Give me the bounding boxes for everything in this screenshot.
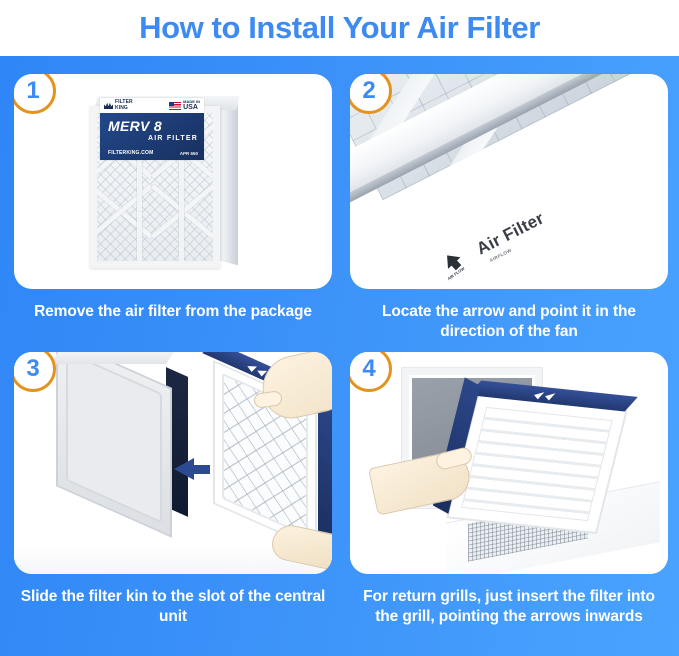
step-card-3: 3 Slide the filter kin to the slot of th… [14,352,332,627]
central-unit-panel [66,352,162,523]
page-title: How to Install Your Air Filter [139,10,540,46]
merv-rating-text: MERV 8 [108,119,198,133]
step-1-image-card: FILTER KING MADE IN USA [14,74,332,289]
header: How to Install Your Air Filter [0,0,679,56]
step-card-2: AIR FLOW Air Filter AIRFLOW 2 Locate the… [350,74,668,342]
air-filter-text: AIR FILTER [108,135,198,142]
brand-line-2: KING [115,106,133,111]
steps-grid: FILTER KING MADE IN USA [0,56,679,656]
step-1-caption: Remove the air filter from the package [14,302,332,322]
filter-king-logo: FILTER KING [104,100,133,110]
made-in-usa-text: MADE IN USA [183,100,200,111]
air-filter-product-image: FILTER KING MADE IN USA [84,96,274,268]
step-2-image-card: AIR FLOW Air Filter AIRFLOW 2 [350,74,668,289]
filter-panel: AIR FLOW Air Filter AIRFLOW [350,74,668,270]
step-number-badge-1: 1 [14,74,56,114]
label-footer: FILTERKING.COM APR 650 [108,150,198,156]
apr-rating-text: APR 650 [180,151,198,156]
step-4-image-card: 4 [350,352,668,574]
label-header: FILTER KING MADE IN USA [100,98,204,113]
infographic-page: How to Install Your Air Filter [0,0,679,656]
central-unit-top [50,352,178,364]
grill-louvers [461,407,613,521]
filter-product-label: FILTER KING MADE IN USA [100,98,204,160]
brand-name: FILTER KING [115,100,133,110]
slide-filter-illustration [14,352,332,574]
central-unit-body [56,352,172,538]
usa-flag-icon [169,102,181,110]
step-card-4: 4 For return grills, just insert the fil… [350,352,668,627]
grill-body [446,394,628,534]
filter-corner-image: AIR FLOW Air Filter AIRFLOW [350,74,668,289]
country-text: USA [183,104,200,111]
step-2-caption: Locate the arrow and point it in the dir… [350,302,668,342]
steps-board: FILTER KING MADE IN USA [0,56,679,656]
return-grill [446,394,628,534]
step-card-1: FILTER KING MADE IN USA [14,74,332,322]
step-3-image-card: 3 [14,352,332,574]
made-in-usa-mark: MADE IN USA [169,100,200,111]
website-text: FILTERKING.COM [108,150,153,156]
arrow-head [174,458,194,480]
label-navy-panel: MERV 8 AIR FILTER FILTERKING.COM APR 650 [100,113,204,160]
crown-icon [104,102,113,109]
step-3-caption: Slide the filter kin to the slot of the … [14,587,332,627]
return-grill-illustration [350,352,668,574]
step-4-caption: For return grills, just insert the filte… [350,587,668,627]
